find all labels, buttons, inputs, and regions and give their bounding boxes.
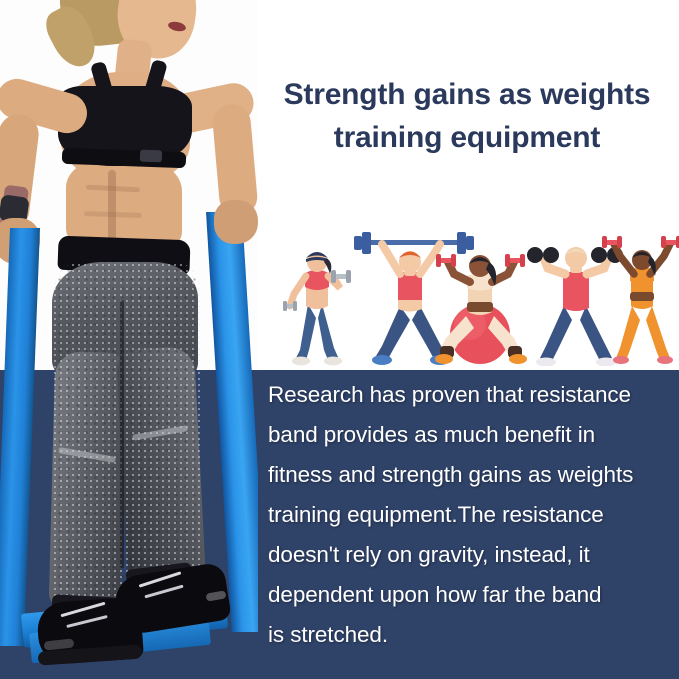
figure-woman-arms-raised bbox=[598, 230, 679, 366]
product-image-card: Strength gains as weights training equip… bbox=[0, 0, 679, 679]
abs-centre-line bbox=[108, 170, 116, 244]
paragraph-line-1: Research has proven that resistance bbox=[268, 375, 676, 415]
leggings-seam-lower bbox=[120, 370, 124, 568]
paragraph-line-7: is stretched. bbox=[268, 615, 676, 655]
dumbbell-icon bbox=[331, 270, 351, 283]
bra-clip bbox=[140, 150, 162, 163]
photo-lower-overlay bbox=[0, 370, 258, 679]
woman-arms-raised-body bbox=[613, 244, 673, 364]
paragraph-line-4: training equipment.The resistance bbox=[268, 495, 676, 535]
headline-line-1: Strength gains as weights bbox=[258, 74, 676, 117]
resistance-band-left-strand-lower bbox=[0, 370, 40, 646]
figure-woman-on-exercise-ball bbox=[426, 234, 538, 366]
description-text: Research has proven that resistance band… bbox=[268, 375, 676, 655]
headline-line-2: training equipment bbox=[258, 117, 676, 160]
paragraph-line-2: band provides as much benefit in bbox=[268, 415, 676, 455]
paragraph-line-3: fitness and strength gains as weights bbox=[268, 455, 676, 495]
right-fist-gripping-band bbox=[214, 200, 258, 244]
paragraph-line-5: doesn't rely on gravity, instead, it bbox=[268, 535, 676, 575]
paragraph-line-6: dependent upon how far the band bbox=[268, 575, 676, 615]
woman-dumbbell-curl-body bbox=[290, 252, 342, 366]
fitness-figures-illustration bbox=[258, 214, 679, 372]
page-title: Strength gains as weights training equip… bbox=[258, 74, 676, 159]
